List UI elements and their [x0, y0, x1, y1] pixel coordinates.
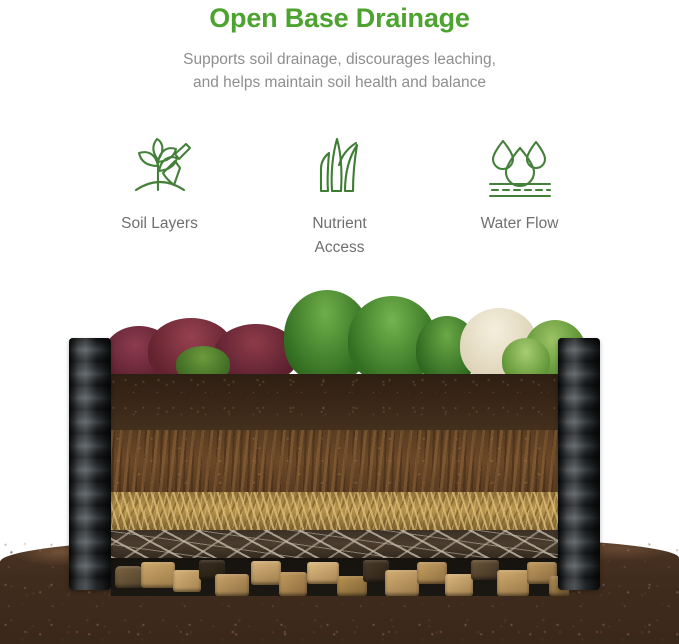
page-title: Open Base Drainage [0, 2, 679, 36]
water-droplets-drainage-icon [430, 132, 610, 202]
feature-list: Soil Layers Nutrient Access [0, 132, 679, 260]
header: Open Base Drainage Supports soil drainag… [0, 0, 679, 94]
seedling-trowel-icon [70, 132, 250, 202]
label-line-1: Water Flow [430, 212, 610, 236]
plant-canopy [96, 282, 584, 382]
log-piece [417, 562, 447, 584]
log-piece [445, 574, 473, 596]
soil-cross-section [111, 374, 569, 596]
feature-nutrient-access: Nutrient Access [250, 132, 430, 260]
label-line-1: Nutrient [250, 212, 430, 236]
infographic-page: Open Base Drainage Supports soil drainag… [0, 0, 679, 644]
feature-label-nutrient-access: Nutrient Access [250, 212, 430, 260]
log-piece [215, 574, 249, 596]
product-image [0, 282, 679, 644]
right-corner-post [558, 338, 600, 590]
soil-layer-twigs [111, 530, 569, 558]
log-piece [279, 572, 307, 596]
feature-label-soil-layers: Soil Layers [70, 212, 250, 236]
left-corner-post [69, 338, 111, 590]
log-piece [471, 560, 499, 580]
log-piece [307, 562, 339, 584]
grass-blades-icon [250, 132, 430, 202]
log-piece [497, 570, 529, 596]
log-piece [173, 570, 201, 592]
page-subtitle: Supports soil drainage, discourages leac… [0, 48, 679, 95]
label-line-2: Access [250, 236, 430, 260]
soil-layer-straw [111, 492, 569, 530]
feature-soil-layers: Soil Layers [70, 132, 250, 236]
log-piece [141, 562, 175, 588]
feature-label-water-flow: Water Flow [430, 212, 610, 236]
soil-layer-logs [111, 558, 569, 596]
subtitle-line-1: Supports soil drainage, discourages leac… [0, 48, 679, 71]
log-piece [251, 561, 281, 585]
subtitle-line-2: and helps maintain soil health and balan… [0, 71, 679, 94]
soil-layer-compost-mulch [111, 430, 569, 492]
label-line-1: Soil Layers [70, 212, 250, 236]
feature-water-flow: Water Flow [430, 132, 610, 236]
log-piece [385, 570, 419, 596]
soil-layer-topsoil [111, 374, 569, 430]
